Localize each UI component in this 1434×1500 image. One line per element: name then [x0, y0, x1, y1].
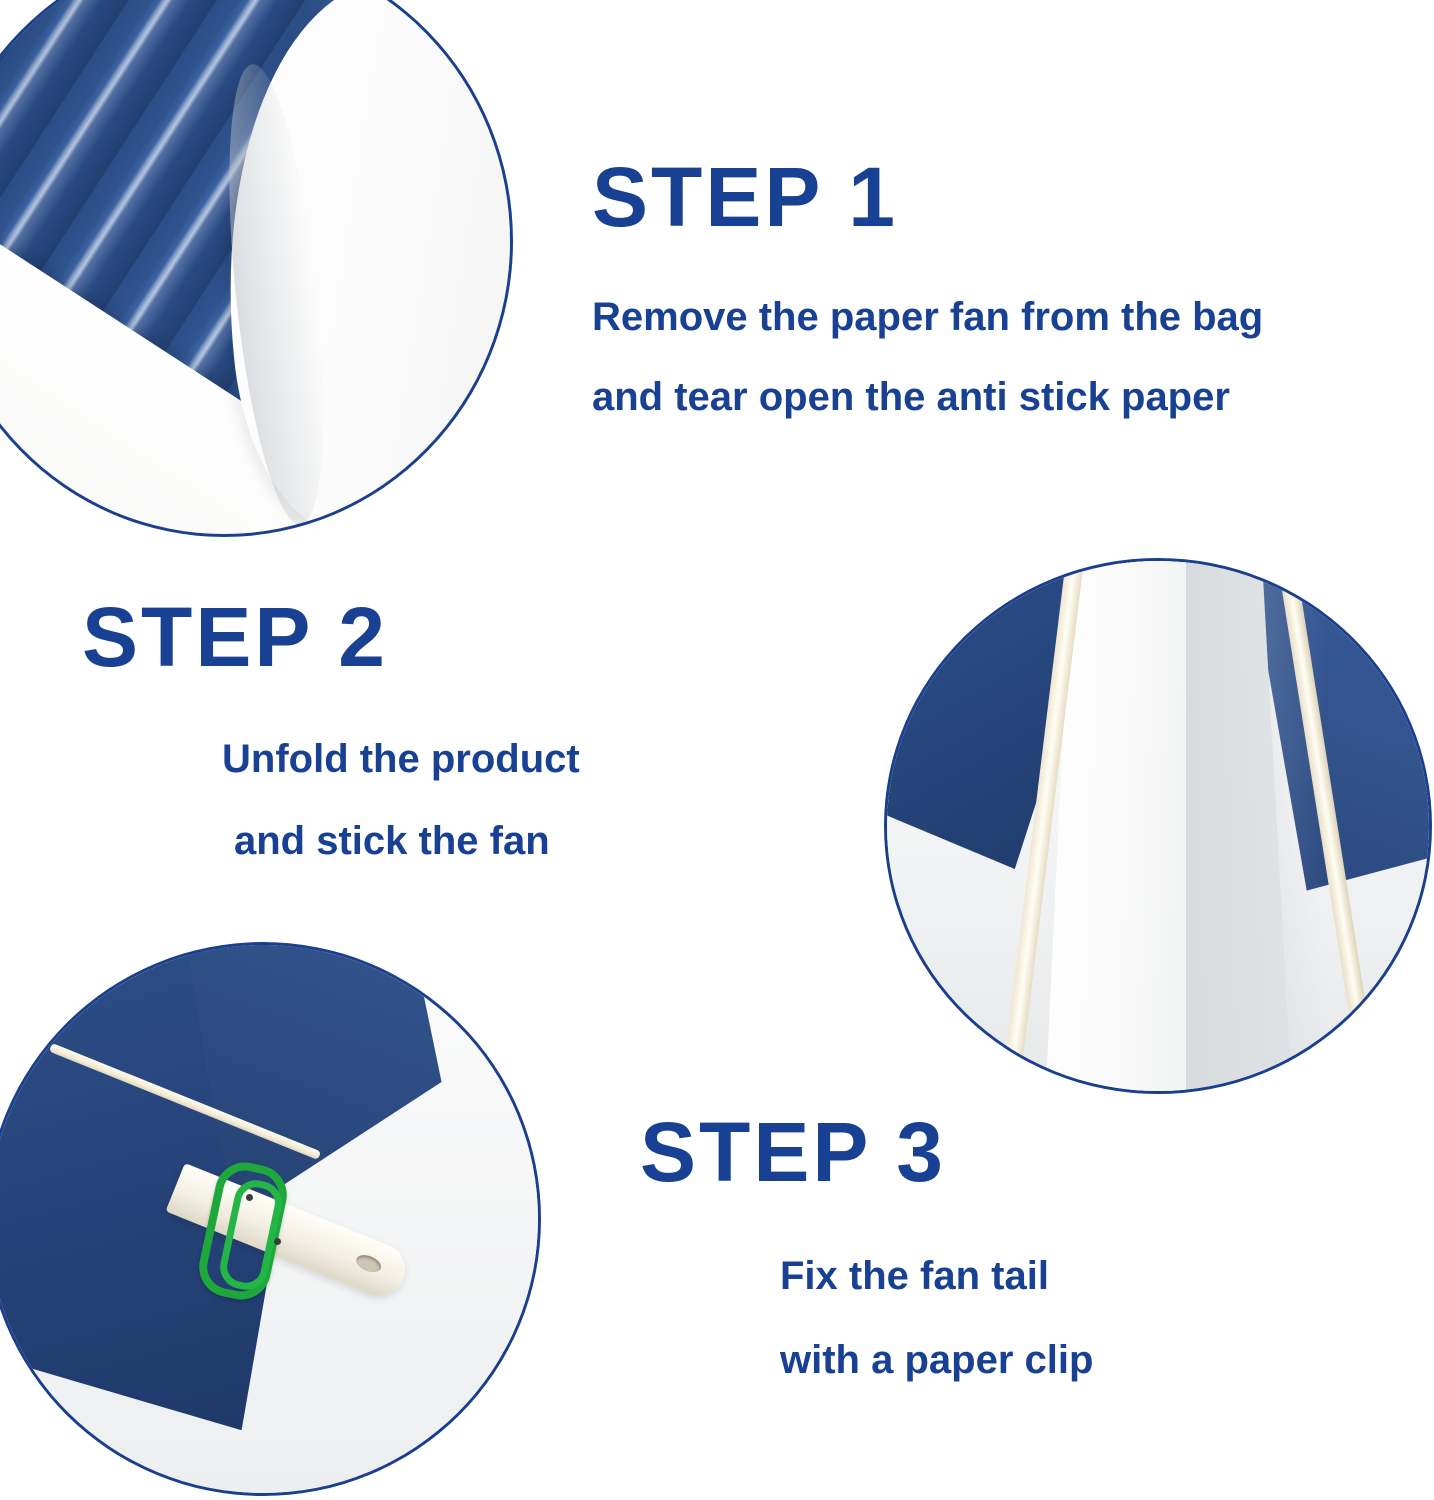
- step-3-line-1: Fix the fan tail: [640, 1256, 1093, 1296]
- step-1-photo-circle: [0, 0, 513, 537]
- step-3-text-block: STEP 3 Fix the fan tail with a paper cli…: [640, 1110, 1093, 1424]
- step-2-photo-inner: [884, 558, 1432, 1094]
- fan-tail-hole: [354, 1252, 384, 1276]
- step-1-text-block: STEP 1 Remove the paper fan from the bag…: [592, 155, 1263, 457]
- step-3-photo-inner: [0, 942, 541, 1496]
- instruction-sheet: STEP 1 Remove the paper fan from the bag…: [0, 0, 1434, 1500]
- step-2-line-2: and stick the fan: [82, 821, 580, 861]
- step-2-title: STEP 2: [82, 595, 580, 679]
- step-3-photo-circle: [0, 942, 541, 1496]
- step-3-title: STEP 3: [640, 1110, 1093, 1194]
- step-3-line-2: with a paper clip: [640, 1340, 1093, 1380]
- step-2-line-1: Unfold the product: [82, 739, 580, 779]
- step-1-title: STEP 1: [592, 155, 1263, 239]
- step-2-text-block: STEP 2 Unfold the product and stick the …: [82, 595, 580, 903]
- step-1-photo-inner: [0, 0, 513, 537]
- step-1-line-1: Remove the paper fan from the bag: [592, 297, 1263, 337]
- step-2-photo-circle: [884, 558, 1432, 1094]
- step-1-line-2: and tear open the anti stick paper: [592, 377, 1263, 417]
